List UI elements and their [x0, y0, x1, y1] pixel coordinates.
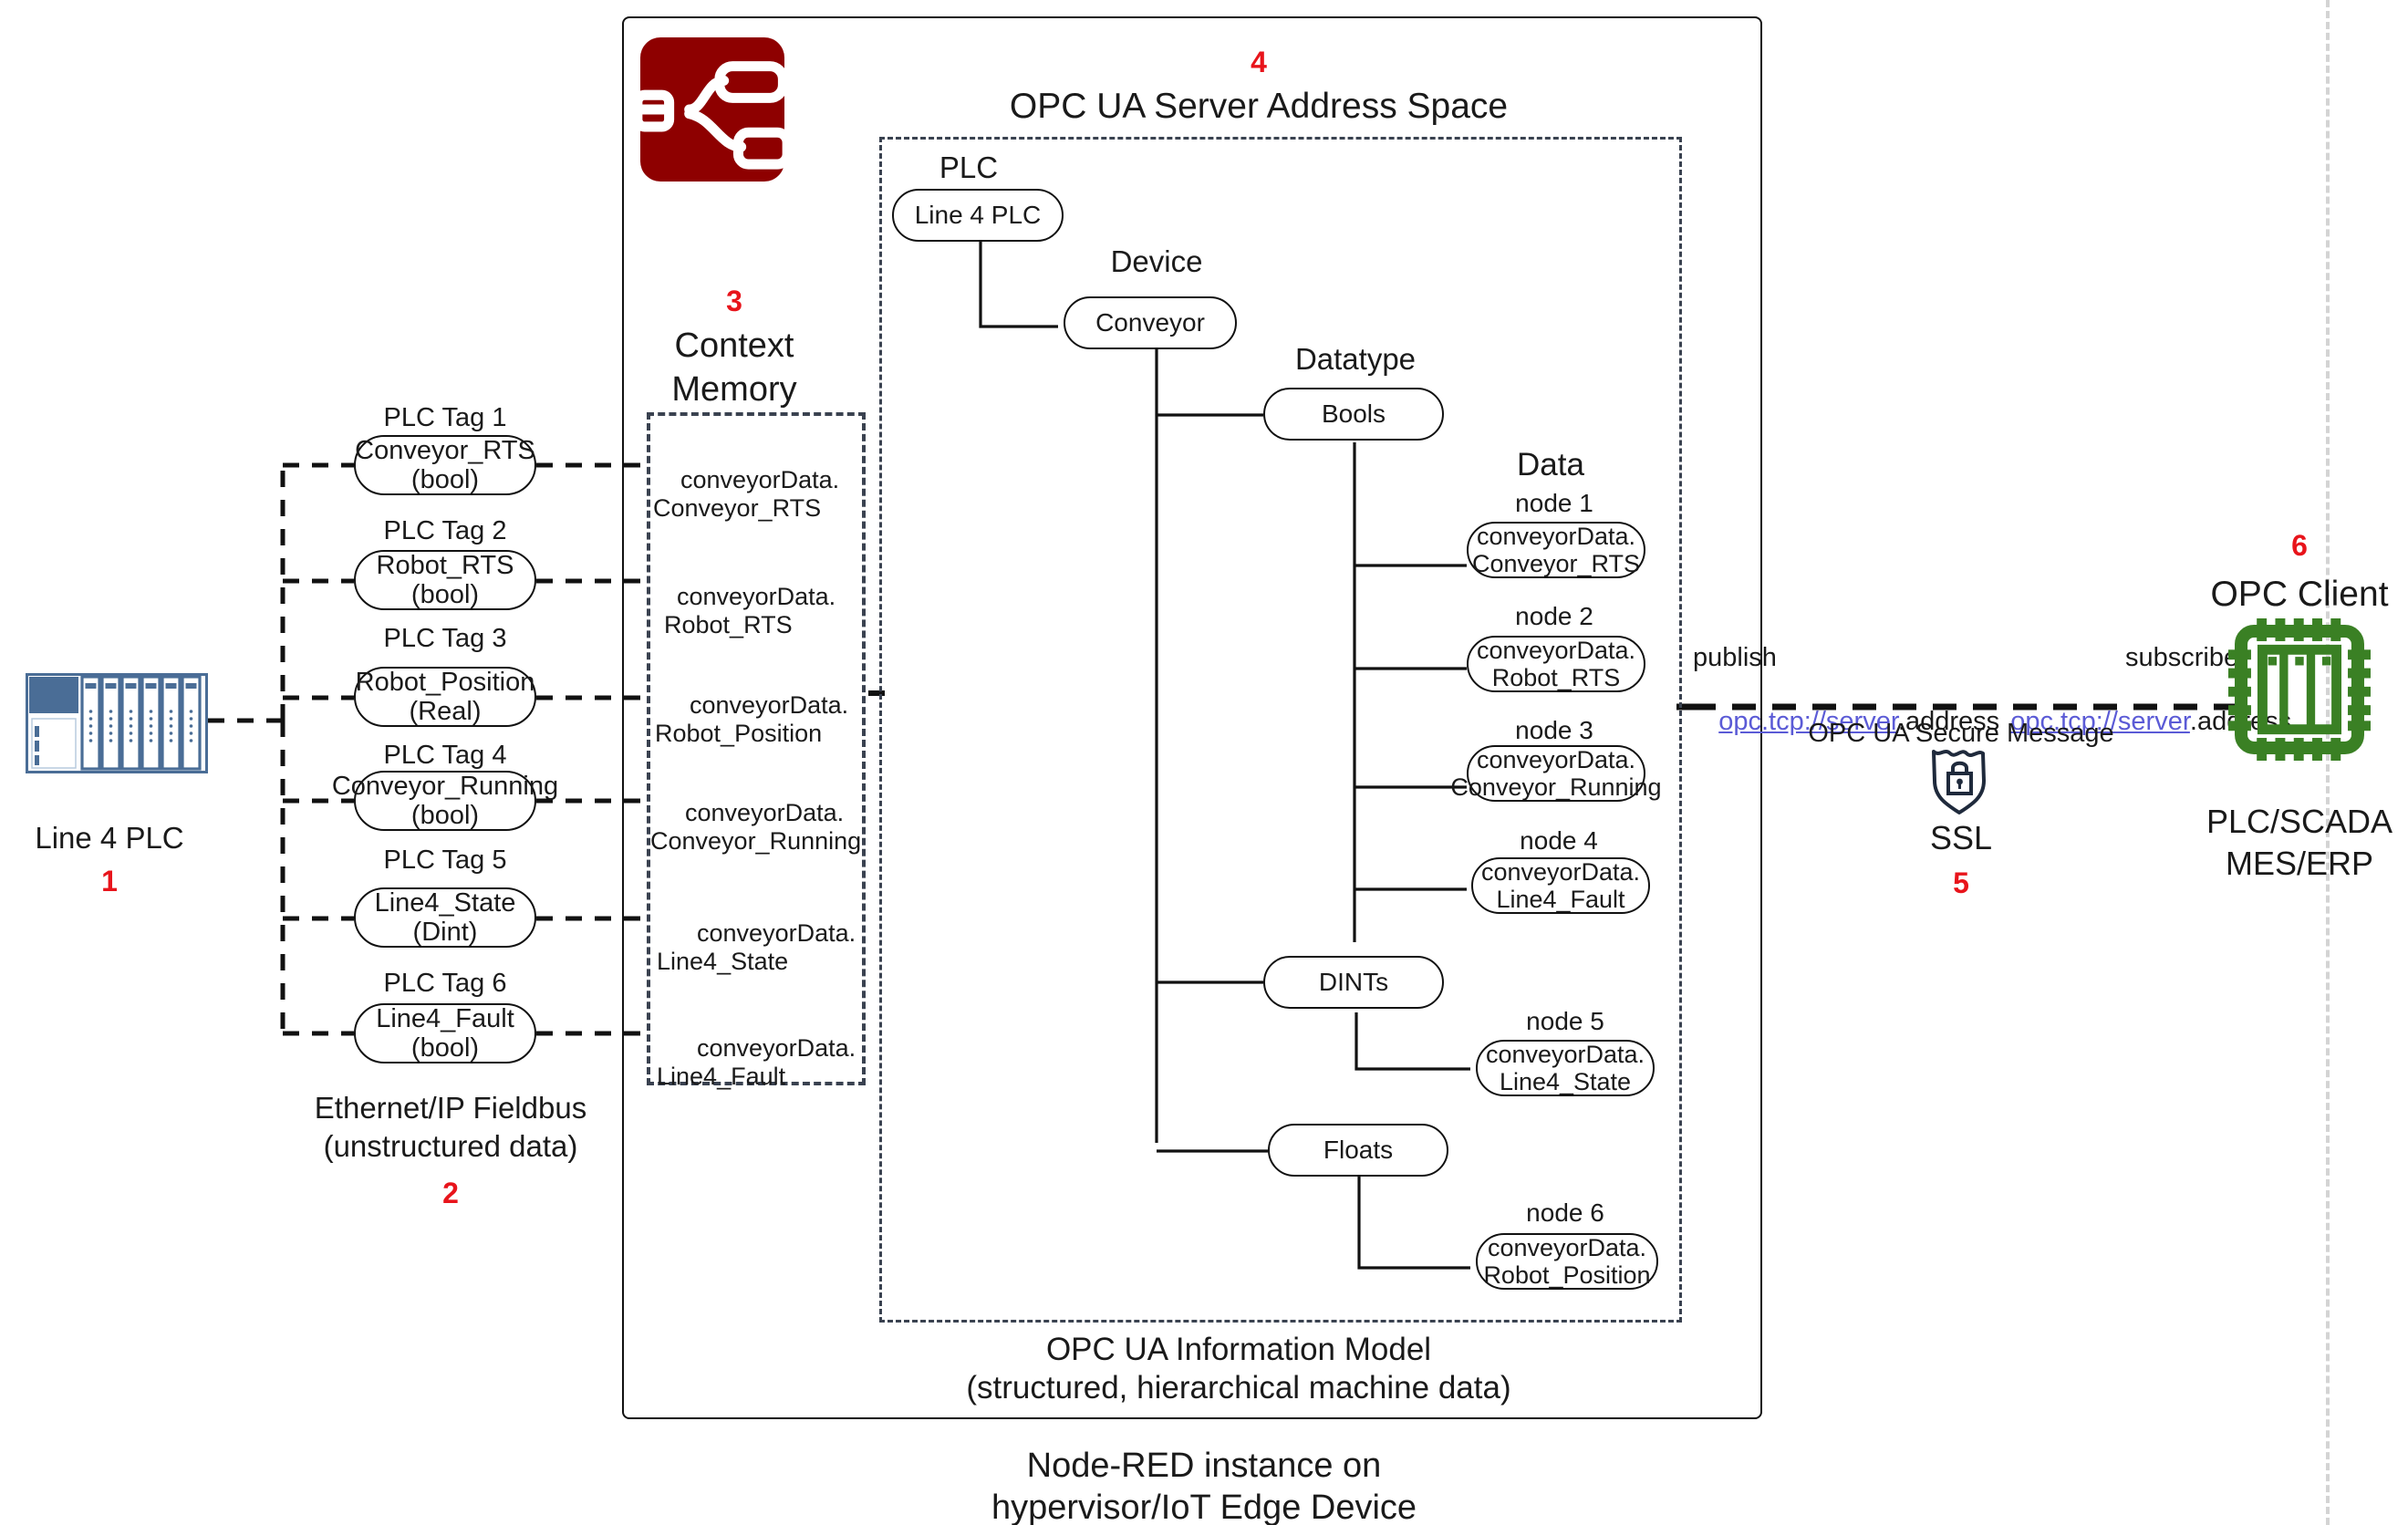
context-entry-suffix-6: Line4_Fault [657, 1063, 785, 1090]
plc-tag-name-3: Robot_Position [356, 668, 535, 697]
data-node-prefix-4: conveyorData. [1481, 858, 1640, 886]
data-node-prefix-1: conveyorData. [1477, 523, 1635, 550]
plc-tag-node-2[interactable]: Robot_RTS(bool) [354, 550, 536, 610]
opc-client-footer-line2: MES/ERP [2226, 845, 2373, 882]
plc-tag-name-6: Line4_Fault [376, 1004, 514, 1033]
shield-lock-icon [1926, 741, 1996, 817]
tree-datatype-label-bools: Bools [1322, 399, 1386, 428]
plc-tag-caption-4: PLC Tag 4 [384, 741, 507, 771]
plc-tag-caption-3: PLC Tag 3 [384, 624, 507, 654]
tree-device-caption: Device [1111, 244, 1203, 279]
node-red-footer-line1: Node-RED instance on [1027, 1447, 1382, 1487]
publish-label: publish [1693, 643, 1777, 673]
plc-tag-node-5[interactable]: Line4_State(Dint) [354, 887, 536, 948]
context-entry-4: conveyorData.Conveyor_Running [650, 771, 861, 884]
information-model-line1: OPC UA Information Model [1046, 1332, 1431, 1368]
data-node-2[interactable]: conveyorData.Robot_RTS [1467, 636, 1645, 692]
data-node-suffix-3: Conveyor_Running [1450, 773, 1661, 801]
plc-tag-name-5: Line4_State [375, 888, 516, 918]
ssl-label: SSL [1930, 819, 1992, 856]
step-number-6: 6 [2291, 529, 2308, 563]
tree-datatype-label-dints: DINTs [1319, 968, 1388, 996]
diagram-canvas: Line 4 PLC 1 PLC Tag 1 Conveyor_RTS(bool… [0, 0, 2408, 1525]
plc-tag-node-4[interactable]: Conveyor_Running(bool) [354, 771, 536, 831]
plc-tag-type-1: (bool) [411, 465, 479, 494]
context-entry-prefix-2: conveyorData. [677, 583, 836, 610]
context-entry-6: conveyorData.Line4_Fault [657, 1006, 856, 1119]
data-node-prefix-6: conveyorData. [1488, 1234, 1646, 1261]
context-entry-prefix-3: conveyorData. [690, 691, 848, 720]
plc-rack-icon [26, 673, 208, 773]
subscribe-label: subscribe [2125, 643, 2238, 673]
tree-plc-label: Line 4 PLC [915, 201, 1042, 229]
data-node-caption-3: node 3 [1515, 716, 1593, 745]
tree-data-caption: Data [1517, 447, 1584, 483]
data-node-caption-1: node 1 [1515, 489, 1593, 518]
plc-tag-caption-5: PLC Tag 5 [384, 845, 507, 876]
plc-tag-caption-6: PLC Tag 6 [384, 969, 507, 999]
data-node-suffix-1: Conveyor_RTS [1472, 550, 1640, 577]
opc-client-title: OPC Client [2210, 575, 2388, 616]
context-entry-suffix-1: Conveyor_RTS [653, 494, 821, 522]
tree-datatype-label-floats: Floats [1323, 1136, 1393, 1164]
context-entry-3: conveyorData.Robot_Position [655, 663, 848, 776]
context-entry-suffix-5: Line4_State [657, 948, 788, 975]
step-number-5: 5 [1953, 866, 1969, 900]
data-node-caption-5: node 5 [1526, 1007, 1604, 1036]
context-entry-suffix-3: Robot_Position [655, 720, 822, 747]
data-node-5[interactable]: conveyorData.Line4_State [1476, 1040, 1655, 1096]
tree-node-floats[interactable]: Floats [1268, 1124, 1448, 1177]
tree-device-label: Conveyor [1095, 308, 1205, 337]
data-node-caption-6: node 6 [1526, 1198, 1604, 1228]
plc-tag-type-2: (bool) [411, 580, 479, 609]
fieldbus-label-line1: Ethernet/IP Fieldbus [315, 1091, 586, 1126]
plc-tag-type-5: (Dint) [413, 918, 478, 947]
tree-node-dints[interactable]: DINTs [1263, 956, 1444, 1009]
plc-tag-name-1: Conveyor_RTS [355, 436, 535, 465]
data-node-prefix-2: conveyorData. [1477, 637, 1635, 664]
data-node-4[interactable]: conveyorData.Line4_Fault [1471, 857, 1650, 914]
context-entry-suffix-4: Conveyor_Running [650, 827, 861, 855]
information-model-line2: (structured, hierarchical machine data) [966, 1370, 1510, 1406]
data-node-suffix-2: Robot_RTS [1492, 664, 1621, 691]
fieldbus-label-line2: (unstructured data) [324, 1129, 578, 1164]
tree-node-bools[interactable]: Bools [1263, 388, 1444, 441]
data-node-prefix-3: conveyorData. [1477, 746, 1635, 773]
step-number-3: 3 [726, 285, 742, 318]
plc-tag-type-3: (Real) [410, 697, 482, 726]
data-node-prefix-5: conveyorData. [1486, 1041, 1645, 1068]
address-space-title: OPC UA Server Address Space [1010, 87, 1508, 128]
context-entry-prefix-1: conveyorData. [680, 466, 839, 493]
context-entry-prefix-5: conveyorData. [697, 919, 856, 948]
context-memory-title-line1: Context [675, 327, 794, 367]
data-node-3[interactable]: conveyorData.Conveyor_Running [1467, 745, 1645, 802]
tree-datatype-caption: Datatype [1295, 342, 1416, 377]
context-entry-2: conveyorData.Robot_RTS [649, 555, 836, 668]
plc-tag-node-1[interactable]: Conveyor_RTS(bool) [354, 435, 536, 495]
data-node-caption-2: node 2 [1515, 602, 1593, 631]
node-red-logo [640, 36, 784, 182]
data-node-suffix-5: Line4_State [1500, 1068, 1631, 1095]
data-node-6[interactable]: conveyorData.Robot_Position [1476, 1233, 1658, 1290]
right-boundary-divider [2326, 0, 2330, 1525]
tree-plc-caption: PLC [939, 150, 998, 185]
plc-tag-type-4: (bool) [411, 801, 479, 830]
plc-tag-type-6: (bool) [411, 1033, 479, 1063]
context-entry-1: conveyorData.Conveyor_RTS [653, 438, 839, 551]
node-red-footer-line2: hypervisor/IoT Edge Device [991, 1489, 1417, 1525]
plc-source-label: Line 4 PLC [35, 821, 183, 856]
step-number-1: 1 [101, 865, 118, 898]
plc-tag-caption-2: PLC Tag 2 [384, 516, 507, 546]
context-entry-5: conveyorData.Line4_State [657, 891, 856, 1004]
opc-client-footer-line1: PLC/SCADA [2206, 803, 2392, 840]
plc-tag-node-6[interactable]: Line4_Fault(bool) [354, 1003, 536, 1063]
data-node-suffix-4: Line4_Fault [1496, 886, 1624, 913]
context-entry-prefix-4: conveyorData. [685, 799, 844, 827]
data-node-suffix-6: Robot_Position [1483, 1261, 1650, 1289]
plc-tag-name-4: Conveyor_Running [332, 772, 558, 801]
tree-node-device[interactable]: Conveyor [1064, 296, 1237, 349]
plc-tag-caption-1: PLC Tag 1 [384, 403, 507, 433]
data-node-1[interactable]: conveyorData.Conveyor_RTS [1467, 522, 1645, 578]
cpu-chip-icon [2228, 618, 2371, 761]
data-node-caption-4: node 4 [1520, 826, 1598, 856]
step-number-4: 4 [1251, 46, 1267, 79]
step-number-2: 2 [442, 1177, 459, 1210]
context-entry-prefix-6: conveyorData. [697, 1034, 856, 1063]
context-memory-title-line2: Memory [671, 370, 796, 410]
tree-node-plc[interactable]: Line 4 PLC [892, 189, 1064, 242]
plc-tag-name-2: Robot_RTS [377, 551, 514, 580]
context-entry-suffix-2: Robot_RTS [664, 611, 793, 639]
plc-tag-node-3[interactable]: Robot_Position(Real) [354, 667, 536, 727]
